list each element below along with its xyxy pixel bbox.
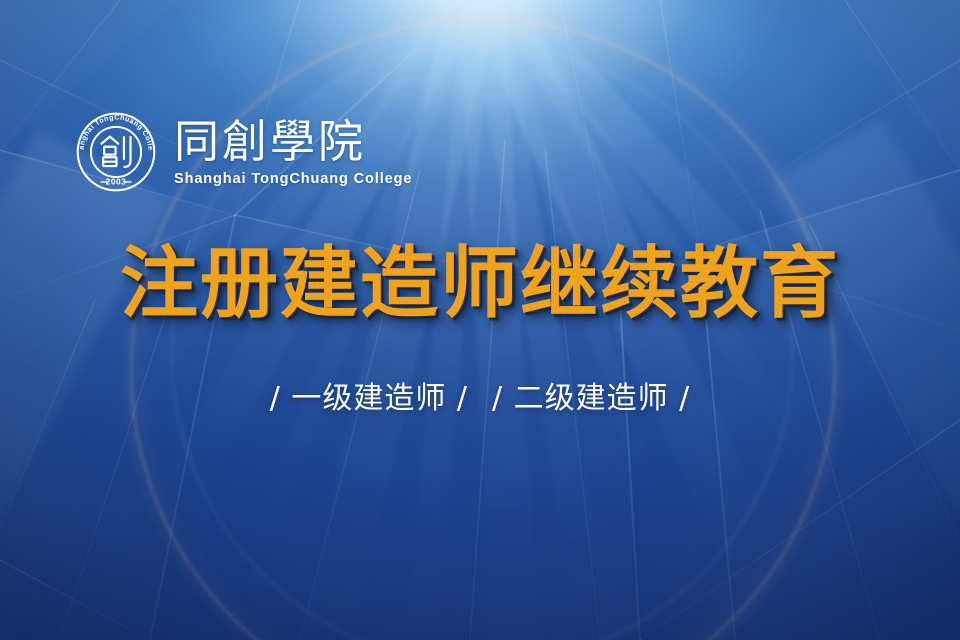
- subtitle-line: / 一级建造师 // 二级建造师 /: [0, 381, 960, 417]
- logo-name-en: Shanghai TongChuang College: [174, 171, 412, 187]
- promo-banner: Shanghai TongChuang College: [0, 0, 960, 640]
- logo-lockup: Shanghai TongChuang College: [72, 108, 412, 196]
- seal-year-text: 2003: [106, 177, 127, 187]
- logo-wordmark: 同創學院 Shanghai TongChuang College: [174, 117, 412, 187]
- headline-title: 注册建造师继续教育: [0, 244, 960, 326]
- logo-name-cn: 同創學院: [174, 119, 366, 164]
- subtitle-segment-level2: / 二级建造师 /: [492, 381, 690, 417]
- banner-content: Shanghai TongChuang College: [0, 0, 960, 640]
- college-seal-icon: Shanghai TongChuang College: [72, 108, 160, 196]
- subtitle-segment-level1: / 一级建造师 /: [270, 381, 468, 417]
